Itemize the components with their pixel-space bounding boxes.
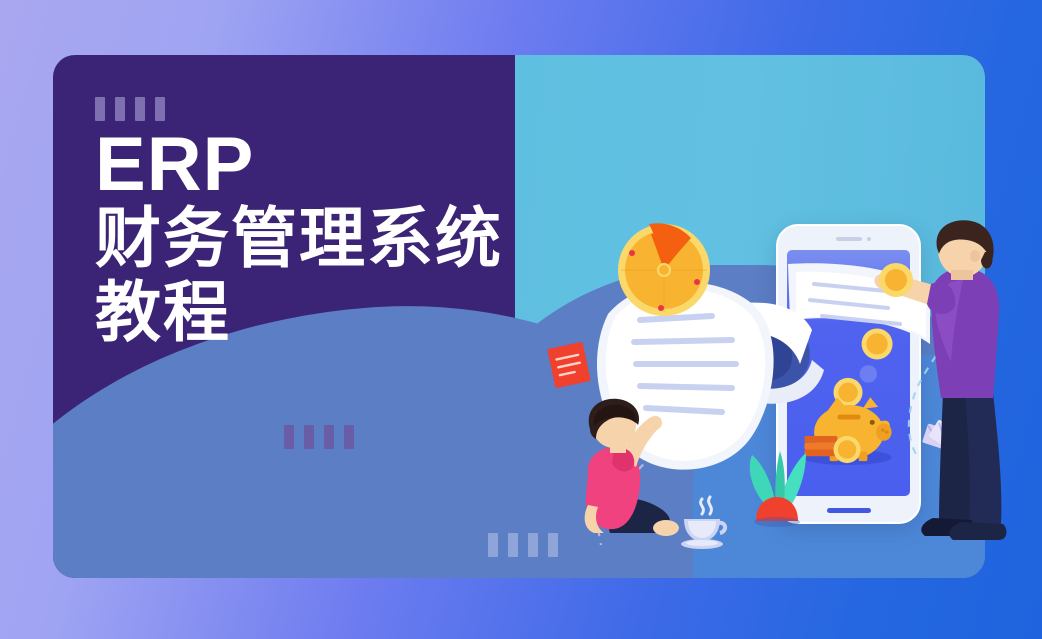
dash-group-bottom — [488, 533, 558, 557]
phone-speaker — [836, 237, 862, 241]
dash-group-top — [95, 97, 165, 121]
headline-line-en: ERP — [95, 128, 503, 202]
dash-group-mid — [284, 425, 354, 449]
seated-person — [570, 395, 690, 555]
phone-camera — [867, 237, 871, 241]
headline-line-cn-1: 财务管理系统 — [95, 202, 503, 276]
headline-line-cn-2: 教程 — [95, 276, 503, 350]
standing-person — [905, 222, 1025, 562]
poster-canvas: ERP 财务管理系统 教程 — [0, 0, 1042, 639]
coffee-cup — [676, 495, 732, 551]
headline-block: ERP 财务管理系统 教程 — [95, 128, 503, 350]
pie-chart-gauge — [613, 216, 715, 318]
gold-coin-in-hand — [878, 262, 914, 298]
